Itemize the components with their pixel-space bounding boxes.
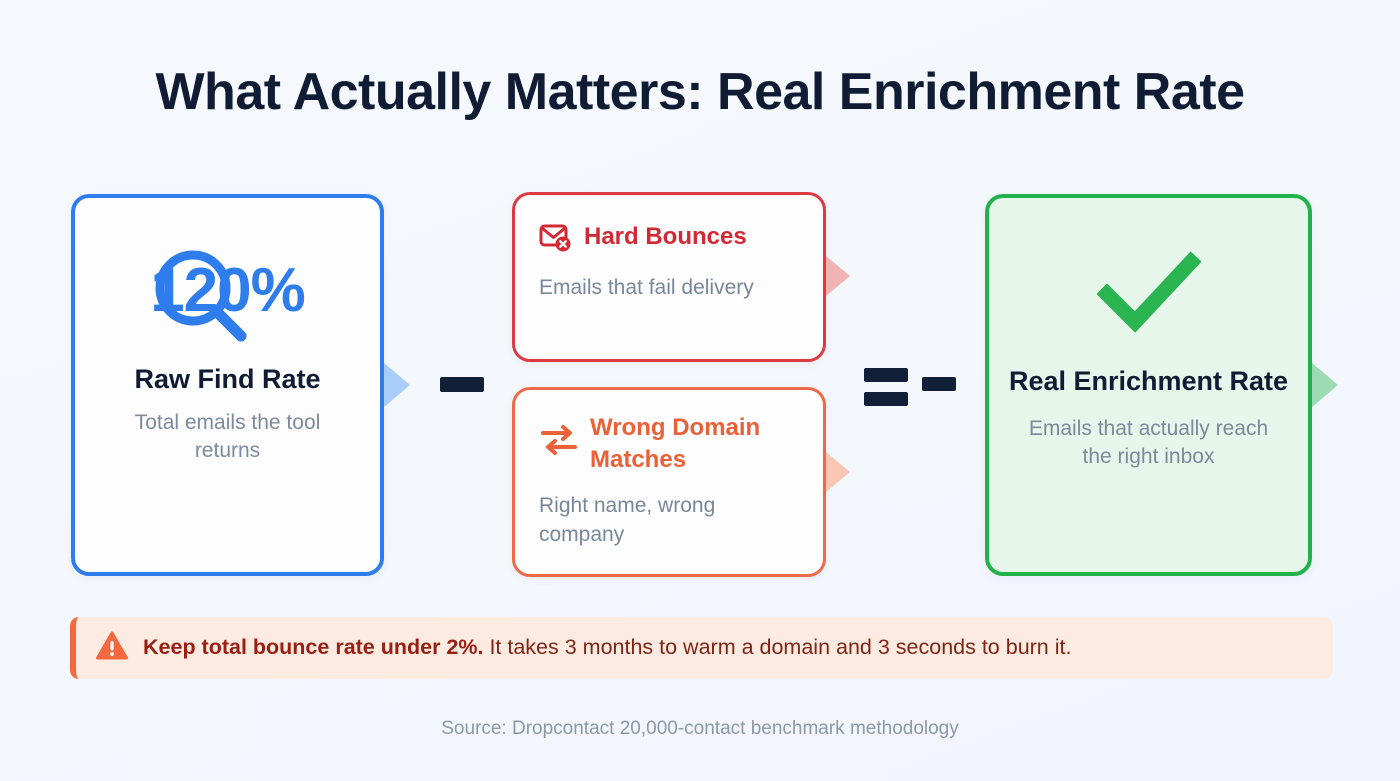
- source-note: Source: Dropcontact 20,000-contact bench…: [0, 718, 1400, 740]
- raw-find-rate-value: 120%: [113, 248, 343, 334]
- operator-minus-2: [922, 377, 956, 391]
- flow-arrow-blue-icon: [384, 363, 410, 407]
- check-icon: [1097, 250, 1201, 334]
- card-raw-title: Raw Find Rate: [134, 364, 320, 395]
- warning-banner: Keep total bounce rate under 2%. It take…: [70, 617, 1333, 679]
- equals-bar-top: [864, 368, 908, 382]
- minus-bar: [440, 377, 484, 392]
- card-real-subtitle: Emails that actually reach the right inb…: [1019, 415, 1279, 472]
- flow-arrow-green-icon: [1312, 363, 1338, 407]
- page-title: What Actually Matters: Real Enrichment R…: [0, 62, 1400, 122]
- card-bounce-subtitle: Emails that fail delivery: [539, 274, 799, 303]
- card-wrong-subtitle: Right name, wrong company: [539, 492, 799, 550]
- raw-find-rate-metric: 120%: [113, 248, 343, 334]
- card-real-title: Real Enrichment Rate: [1009, 364, 1288, 399]
- card-real-enrichment-rate: Real Enrichment Rate Emails that actuall…: [985, 194, 1312, 576]
- card-hard-bounces: Hard Bounces Emails that fail delivery: [512, 192, 826, 362]
- warning-text-bold: Keep total bounce rate under 2%.: [143, 635, 483, 659]
- card-bounce-title: Hard Bounces: [584, 221, 747, 253]
- warning-text: Keep total bounce rate under 2%. It take…: [143, 635, 1071, 661]
- flow-arrow-orange-icon: [826, 452, 850, 492]
- card-wrong-title: Wrong Domain Matches: [590, 412, 799, 475]
- warning-text-rest: It takes 3 months to warm a domain and 3…: [483, 635, 1071, 659]
- operator-equals: [864, 368, 908, 406]
- infographic-canvas: What Actually Matters: Real Enrichment R…: [0, 0, 1400, 781]
- minus-bar: [922, 377, 956, 391]
- mail-x-icon: [539, 223, 573, 258]
- warning-triangle-icon: [96, 631, 128, 665]
- flow-arrow-red-icon: [826, 256, 850, 296]
- swap-arrows-icon: [539, 422, 579, 461]
- card-wrong-domain-matches: Wrong Domain Matches Right name, wrong c…: [512, 387, 826, 577]
- card-raw-subtitle: Total emails the tool returns: [103, 409, 353, 466]
- card-raw-find-rate: 120% Raw Find Rate Total emails the tool…: [71, 194, 384, 576]
- operator-minus-1: [440, 377, 484, 392]
- equals-bar-bottom: [864, 392, 908, 406]
